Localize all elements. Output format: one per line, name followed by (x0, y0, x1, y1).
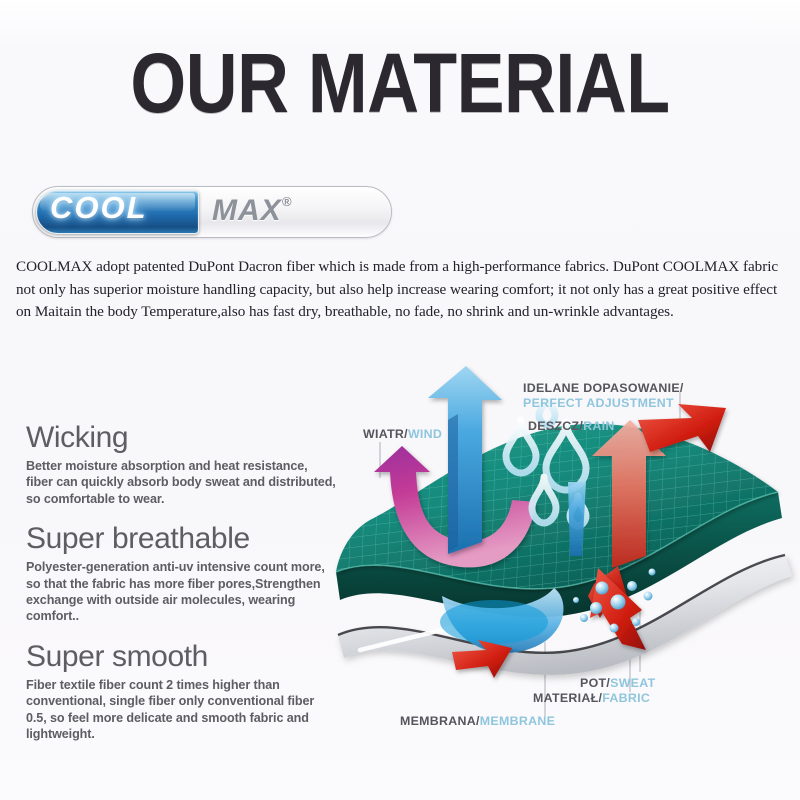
diagram-label-perfect-adjustment: IDELANE DOPASOWANIE/ PERFECT ADJUSTMENT (523, 381, 684, 411)
feature-body: Better moisture absorption and heat resi… (26, 458, 336, 507)
logo-text-cool: COOL (50, 192, 148, 223)
wind-arrow-inner (448, 414, 458, 552)
feature-list: Wicking Better moisture absorption and h… (26, 420, 336, 756)
feature-title: Super breathable (26, 521, 336, 557)
label-pl: MEMBRANA/ (400, 714, 480, 728)
label-en: MEMBRANE (480, 714, 555, 728)
diagram-label-sweat: POT/SWEAT (580, 676, 655, 690)
diagram-label-rain: DESZCZ/RAIN (528, 419, 615, 433)
label-pl: POT/ (580, 676, 610, 690)
label-en: RAIN (583, 419, 615, 433)
feature-item-wicking: Wicking Better moisture absorption and h… (26, 420, 336, 507)
label-pl: DESZCZ/ (528, 419, 583, 433)
page-title: OUR MATERIAL (32, 41, 768, 125)
label-pl: WIATR/ (363, 427, 408, 441)
product-material-infographic: OUR MATERIAL COOL MAX ® COOLMAX adopt pa… (0, 0, 800, 800)
label-en: WIND (408, 427, 442, 441)
coolmax-logo: COOL MAX ® (32, 186, 392, 238)
feature-item-super-smooth: Super smooth Fiber textile fiber count 2… (26, 639, 336, 743)
feature-body: Fiber textile fiber count 2 times higher… (26, 677, 336, 743)
label-en: SWEAT (610, 676, 655, 690)
registered-trademark-icon: ® (282, 194, 292, 209)
label-en: PERFECT ADJUSTMENT (523, 396, 674, 410)
feature-title: Super smooth (26, 639, 336, 675)
label-pl: IDELANE DOPASOWANIE/ (523, 381, 684, 395)
feature-title: Wicking (26, 420, 336, 456)
logo-text-max: MAX (212, 196, 282, 226)
diagram-label-membrane: MEMBRANA/MEMBRANE (400, 714, 555, 728)
feature-body: Polyester-generation anti-uv intensive c… (26, 559, 336, 625)
label-en: FABRIC (602, 691, 650, 705)
page-header: OUR MATERIAL (0, 44, 800, 122)
diagram-label-fabric: MATERIAŁ/FABRIC (533, 691, 650, 705)
label-pl: MATERIAŁ/ (533, 691, 602, 705)
feature-item-super-breathable: Super breathable Polyester-generation an… (26, 521, 336, 625)
diagram-label-wind: WIATR/WIND (363, 427, 442, 441)
intro-paragraph: COOLMAX adopt patented DuPont Dacron fib… (16, 256, 788, 324)
